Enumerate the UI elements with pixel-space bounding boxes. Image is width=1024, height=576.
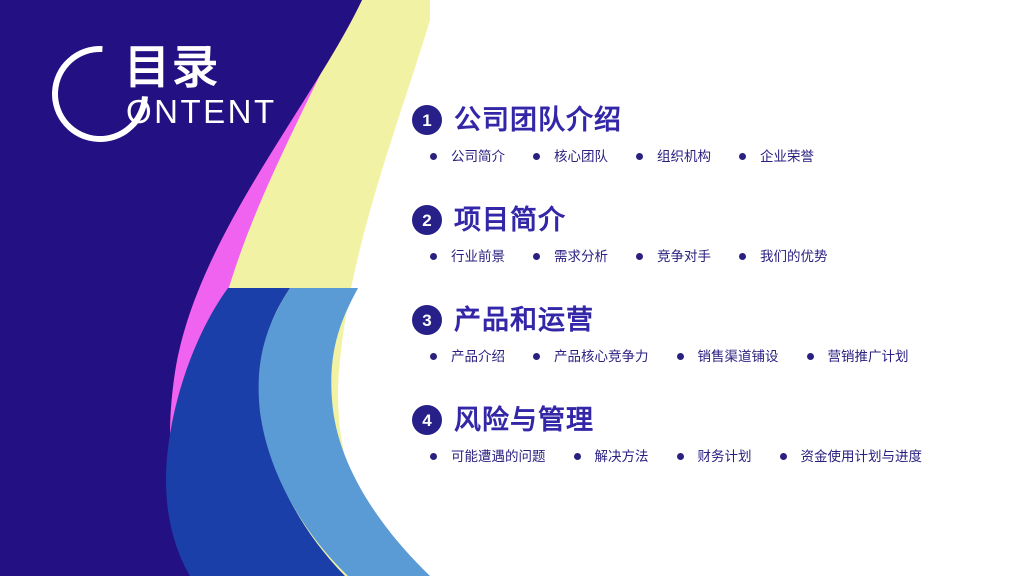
bullet-dot-icon bbox=[430, 353, 437, 360]
agenda-item-label: 销售渠道铺设 bbox=[698, 350, 779, 364]
agenda-item-label: 可能遭遇的问题 bbox=[451, 450, 546, 464]
agenda-item-label: 企业荣誉 bbox=[760, 150, 814, 164]
agenda-item-label: 产品介绍 bbox=[451, 350, 505, 364]
agenda-section-1-header[interactable]: 1 公司团队介绍 bbox=[412, 102, 1012, 138]
agenda-item-label: 需求分析 bbox=[554, 250, 608, 264]
agenda-item-label: 组织机构 bbox=[657, 150, 711, 164]
agenda-item[interactable]: 需求分析 bbox=[533, 250, 636, 264]
agenda-section-3-title: 产品和运营 bbox=[454, 307, 594, 334]
agenda-item[interactable]: 我们的优势 bbox=[739, 250, 856, 264]
agenda-item[interactable]: 营销推广计划 bbox=[807, 350, 937, 364]
bullet-dot-icon bbox=[533, 353, 540, 360]
page-title-cn: 目录 bbox=[124, 44, 220, 90]
agenda-item-label: 我们的优势 bbox=[760, 250, 828, 264]
page-title-en: ONTENT bbox=[126, 95, 277, 128]
agenda-item[interactable]: 产品介绍 bbox=[430, 350, 533, 364]
agenda-section-2-title: 项目简介 bbox=[454, 207, 566, 234]
royal-blue-ribbon bbox=[166, 288, 345, 576]
agenda-item-label: 营销推广计划 bbox=[828, 350, 909, 364]
agenda-item[interactable]: 企业荣誉 bbox=[739, 150, 842, 164]
agenda-item-label: 公司简介 bbox=[451, 150, 505, 164]
bullet-dot-icon bbox=[739, 153, 746, 160]
agenda-section-4[interactable]: 4 风险与管理 可能遭遇的问题 解决方法 财务计划 资金使用计 bbox=[412, 402, 1012, 502]
bullet-dot-icon bbox=[430, 253, 437, 260]
agenda-item[interactable]: 财务计划 bbox=[677, 450, 780, 464]
agenda-item-label: 核心团队 bbox=[554, 150, 608, 164]
agenda-section-3-items: 产品介绍 产品核心竞争力 销售渠道铺设 营销推广计划 bbox=[430, 350, 1012, 364]
bullet-dot-icon bbox=[807, 353, 814, 360]
bullet-dot-icon bbox=[430, 153, 437, 160]
agenda-item-label: 财务计划 bbox=[698, 450, 752, 464]
slide-root: 目录 ONTENT 1 公司团队介绍 公司简介 核心团队 组 bbox=[0, 0, 1024, 576]
sky-blue-ribbon bbox=[259, 288, 430, 576]
agenda-item[interactable]: 可能遭遇的问题 bbox=[430, 450, 574, 464]
agenda-section-2-items: 行业前景 需求分析 竞争对手 我们的优势 bbox=[430, 250, 1012, 264]
bullet-dot-icon bbox=[574, 453, 581, 460]
agenda-item-label: 资金使用计划与进度 bbox=[801, 450, 923, 464]
agenda-section-2-number-badge: 2 bbox=[412, 205, 442, 235]
agenda-item-label: 竞争对手 bbox=[657, 250, 711, 264]
agenda-section-3-number-badge: 3 bbox=[412, 305, 442, 335]
agenda-list: 1 公司团队介绍 公司简介 核心团队 组织机构 企业荣誉 bbox=[412, 102, 1012, 502]
agenda-section-1-items: 公司简介 核心团队 组织机构 企业荣誉 bbox=[430, 150, 1012, 164]
agenda-section-1-number-badge: 1 bbox=[412, 105, 442, 135]
agenda-section-4-items: 可能遭遇的问题 解决方法 财务计划 资金使用计划与进度 bbox=[430, 450, 1012, 464]
agenda-section-1-title: 公司团队介绍 bbox=[454, 107, 622, 134]
agenda-section-2[interactable]: 2 项目简介 行业前景 需求分析 竞争对手 我们的优势 bbox=[412, 202, 1012, 302]
agenda-section-3-header[interactable]: 3 产品和运营 bbox=[412, 302, 1012, 338]
agenda-item[interactable]: 销售渠道铺设 bbox=[677, 350, 807, 364]
agenda-section-3[interactable]: 3 产品和运营 产品介绍 产品核心竞争力 销售渠道铺设 营销推 bbox=[412, 302, 1012, 402]
agenda-item-label: 解决方法 bbox=[595, 450, 649, 464]
agenda-item-label: 行业前景 bbox=[451, 250, 505, 264]
agenda-section-4-title: 风险与管理 bbox=[454, 407, 594, 434]
agenda-item[interactable]: 产品核心竞争力 bbox=[533, 350, 677, 364]
agenda-item[interactable]: 核心团队 bbox=[533, 150, 636, 164]
bullet-dot-icon bbox=[430, 453, 437, 460]
agenda-section-2-header[interactable]: 2 项目简介 bbox=[412, 202, 1012, 238]
bullet-dot-icon bbox=[533, 253, 540, 260]
agenda-item-label: 产品核心竞争力 bbox=[554, 350, 649, 364]
agenda-item[interactable]: 组织机构 bbox=[636, 150, 739, 164]
bullet-dot-icon bbox=[636, 253, 643, 260]
bullet-dot-icon bbox=[533, 153, 540, 160]
bullet-dot-icon bbox=[636, 153, 643, 160]
bullet-dot-icon bbox=[677, 353, 684, 360]
agenda-item[interactable]: 行业前景 bbox=[430, 250, 533, 264]
title-block: 目录 ONTENT bbox=[48, 40, 378, 160]
agenda-section-1[interactable]: 1 公司团队介绍 公司简介 核心团队 组织机构 企业荣誉 bbox=[412, 102, 1012, 202]
agenda-section-4-number-badge: 4 bbox=[412, 405, 442, 435]
agenda-item[interactable]: 解决方法 bbox=[574, 450, 677, 464]
agenda-item[interactable]: 资金使用计划与进度 bbox=[780, 450, 951, 464]
bullet-dot-icon bbox=[739, 253, 746, 260]
bullet-dot-icon bbox=[677, 453, 684, 460]
agenda-item[interactable]: 公司简介 bbox=[430, 150, 533, 164]
bullet-dot-icon bbox=[780, 453, 787, 460]
agenda-section-4-header[interactable]: 4 风险与管理 bbox=[412, 402, 1012, 438]
agenda-item[interactable]: 竞争对手 bbox=[636, 250, 739, 264]
